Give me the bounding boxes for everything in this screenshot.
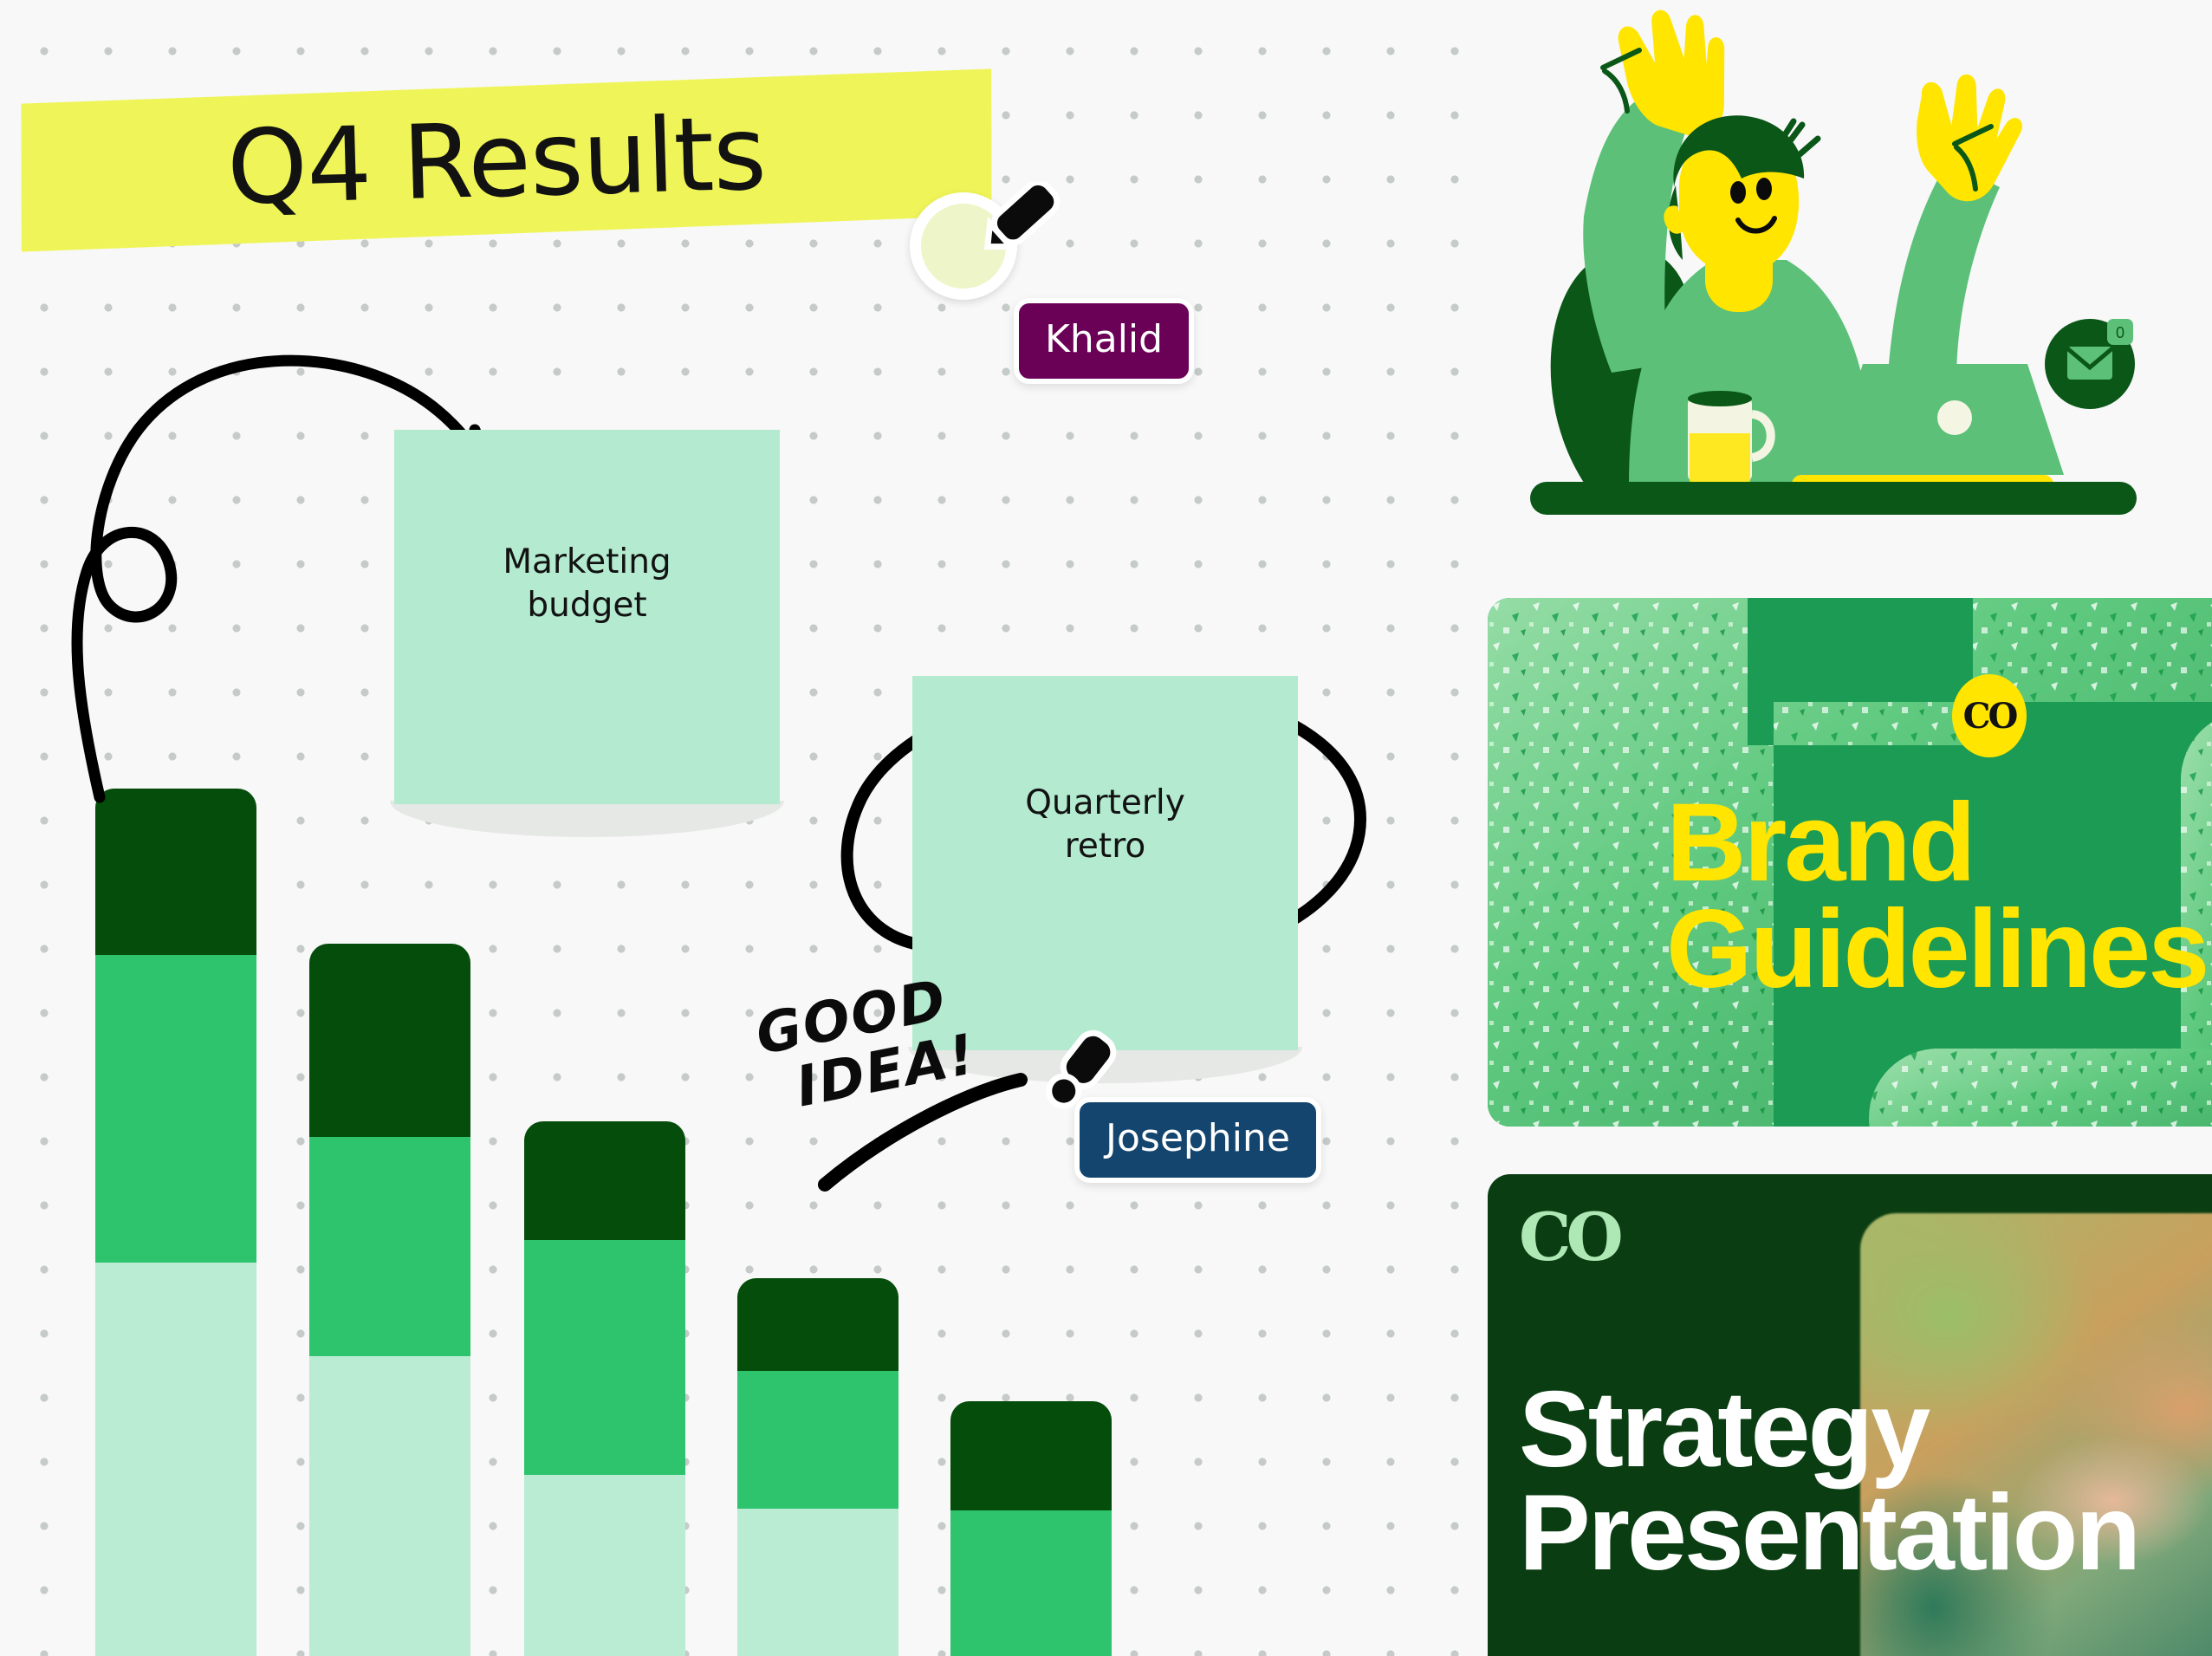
sticky-note-text: Marketing budget	[503, 430, 671, 627]
whiteboard-canvas[interactable]: Q4 Results Marketing budget Quarterly re…	[0, 0, 1482, 1656]
svg-text:0: 0	[2116, 324, 2124, 341]
chart-bar-4[interactable]	[737, 1278, 898, 1656]
brand-card-title: Brand Brand Guidelines Guidelines	[1666, 790, 2207, 1003]
page-title: Q4 Results	[225, 93, 767, 227]
cursor-name-tag-josephine: Josephine	[1074, 1097, 1321, 1183]
right-panel: 0	[1482, 0, 2212, 1656]
chart-bar-5[interactable]	[950, 1401, 1112, 1656]
cursor-name-tag-khalid: Khalid	[1014, 298, 1194, 384]
person-celebrating-illustration: 0	[1482, 0, 2212, 529]
card-strategy-presentation[interactable]: CO Strategy Presentation Strategy Presen…	[1488, 1174, 2212, 1656]
sticky-note-marketing-budget[interactable]: Marketing budget	[394, 430, 780, 804]
sticky-note-quarterly-retro[interactable]: Quarterly retro	[912, 676, 1298, 1050]
chart-bar-1[interactable]	[95, 789, 256, 1656]
chart-bar-2[interactable]	[309, 944, 470, 1656]
card-brand-guidelines[interactable]: CO Brand Brand Guidelines Guidelines	[1488, 598, 2212, 1127]
strategy-card-title: Strategy Presentation Strategy Presentat…	[1519, 1379, 2138, 1585]
pencil-cursor-icon	[974, 182, 1078, 277]
sticky-note-text: Quarterly retro	[1025, 676, 1185, 868]
card-illustration[interactable]: 0	[1482, 0, 2212, 529]
chart-bar-3[interactable]	[524, 1121, 685, 1656]
brand-logo-text: CO	[1963, 696, 2016, 737]
strategy-logo: CO	[1519, 1198, 1618, 1276]
brand-logo: CO	[1952, 674, 2027, 757]
